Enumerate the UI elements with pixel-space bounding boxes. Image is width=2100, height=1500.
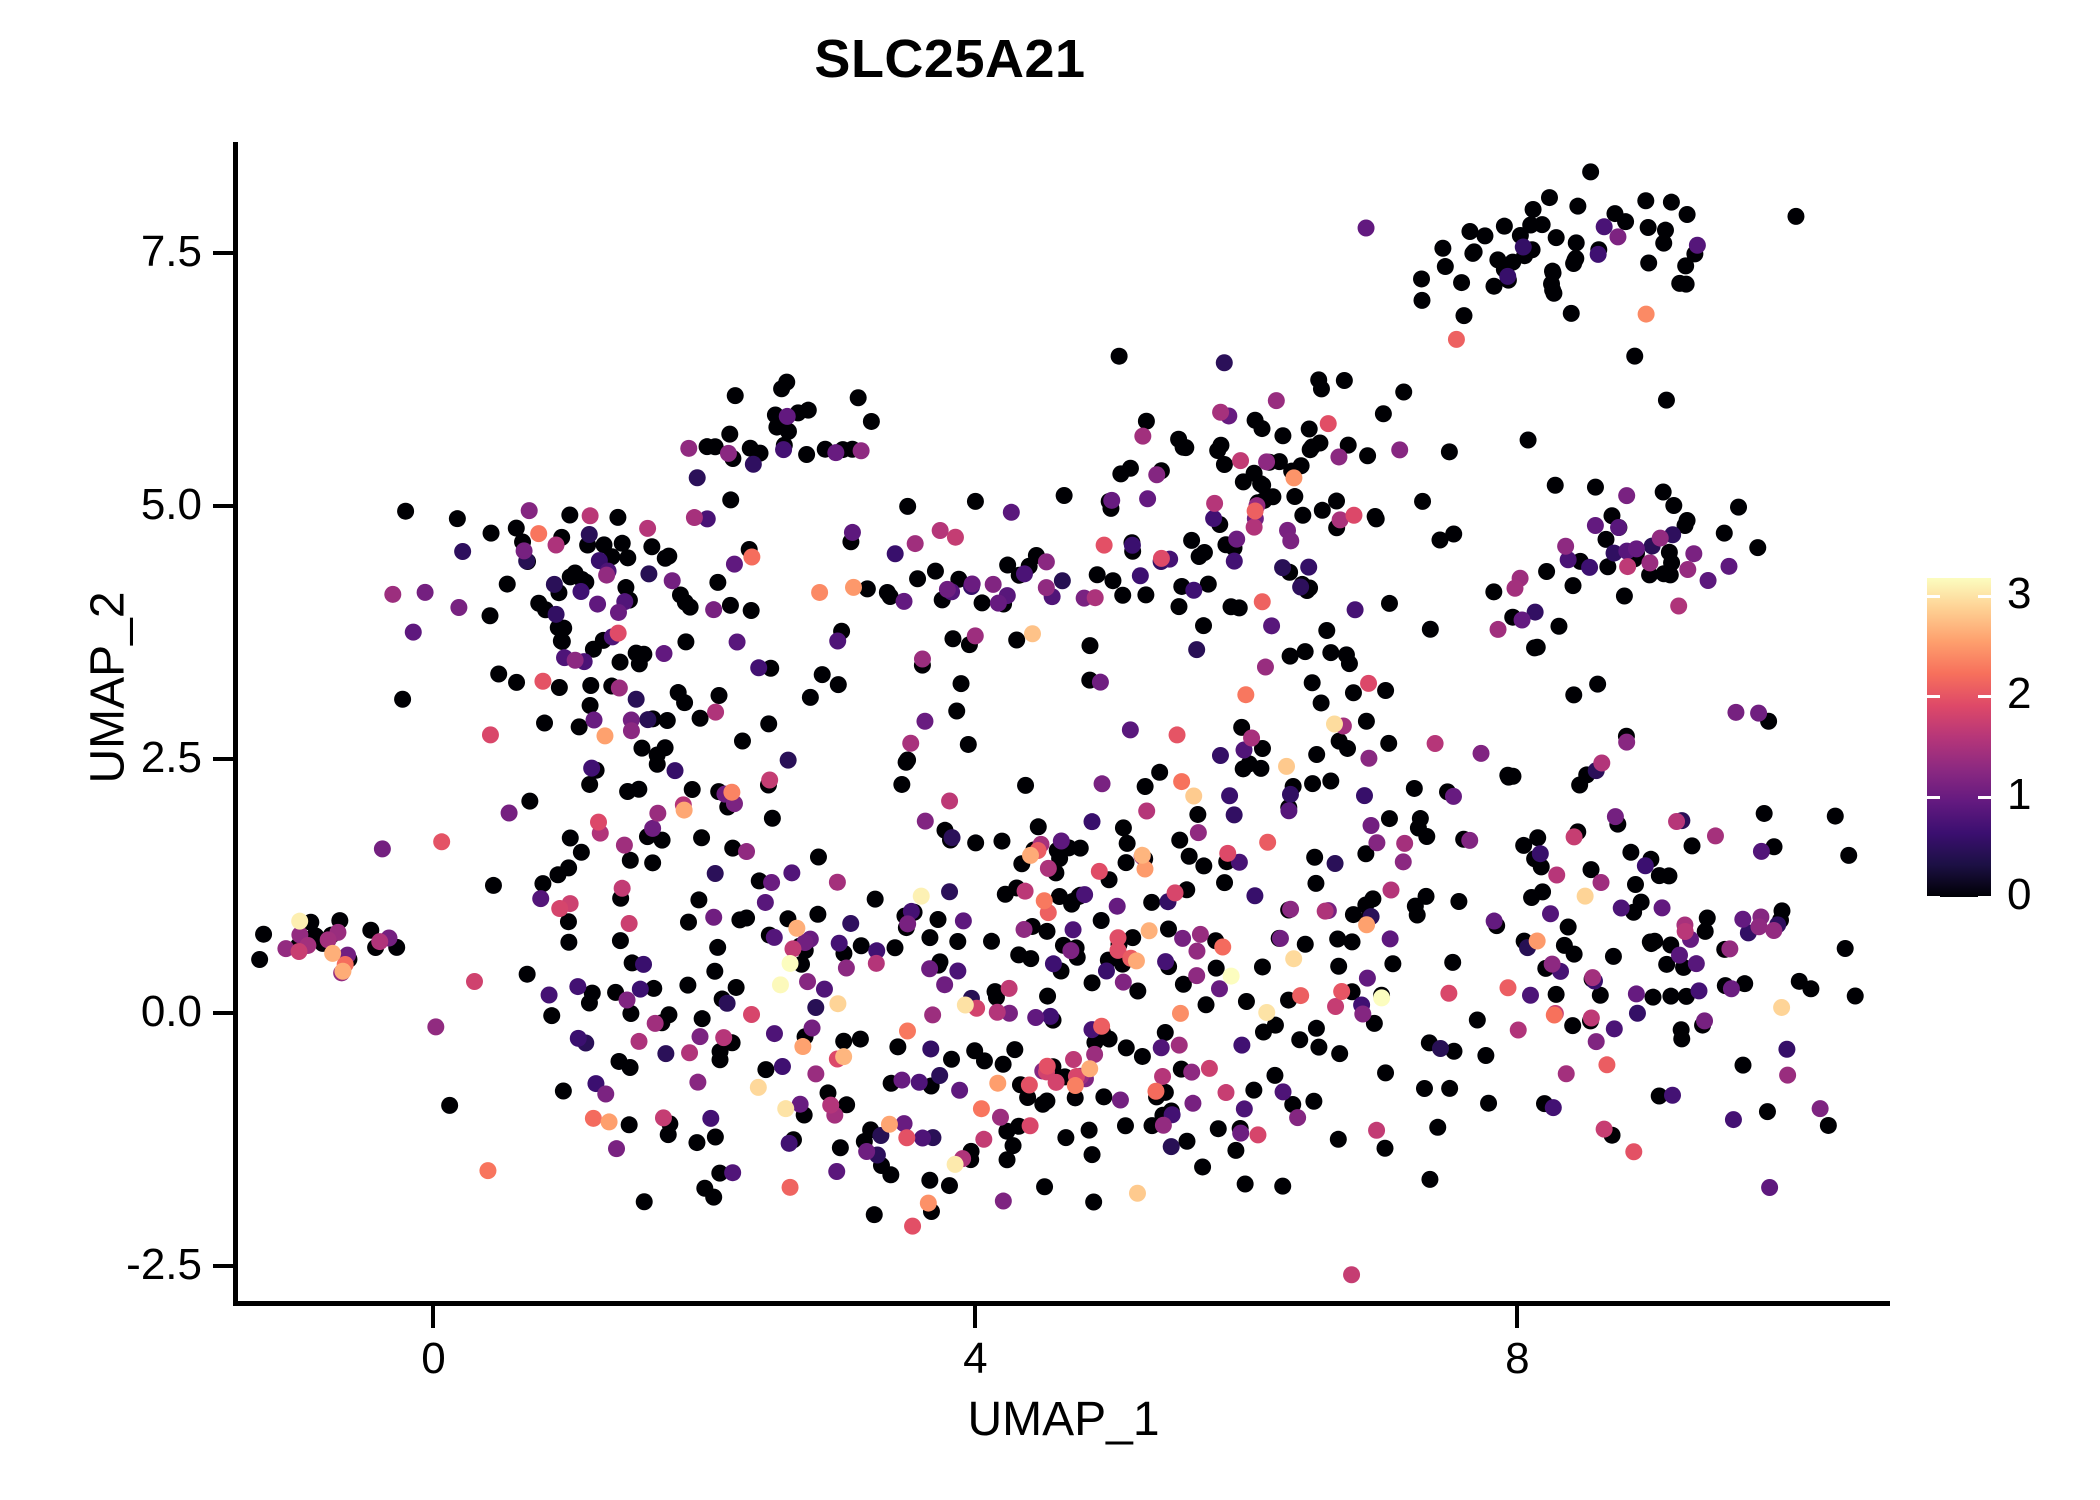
page-title: SLC25A21 [0, 28, 1900, 90]
color-legend-tick-mark [1927, 595, 1991, 598]
color-legend-tick-label: 3 [2007, 572, 2077, 616]
x-tick-label: 4 [895, 1334, 1055, 1384]
umap-feature-plot: SLC25A21 -2.50.02.55.07.5 048 UMAP_1 UMA… [0, 0, 2100, 1500]
x-axis-line [233, 1301, 1890, 1306]
y-tick-mark [213, 757, 235, 761]
color-legend-tick-mark [1927, 896, 1991, 899]
x-tick-mark [431, 1306, 435, 1328]
color-legend-gradient-bar [1927, 578, 1991, 897]
x-tick-mark [1515, 1306, 1519, 1328]
x-tick-label: 8 [1437, 1334, 1597, 1384]
y-axis-label: UMAP_2 [81, 288, 136, 1088]
color-legend-tick-label: 2 [2007, 672, 2077, 716]
y-tick-mark [213, 504, 235, 508]
plot-panel [237, 142, 1890, 1303]
y-tick-mark [213, 1011, 235, 1015]
y-tick-label: -2.5 [2, 1240, 202, 1290]
color-legend-tick-mark [1927, 796, 1991, 799]
y-tick-mark [213, 1264, 235, 1268]
color-legend-tick-label: 0 [2007, 873, 2077, 917]
x-tick-mark [973, 1306, 977, 1328]
color-legend-tick-mark [1927, 695, 1991, 698]
y-tick-label: 7.5 [2, 227, 202, 277]
color-legend-tick-label: 1 [2007, 773, 2077, 817]
x-tick-label: 0 [353, 1334, 513, 1384]
color-legend: 0123 [1927, 578, 1991, 897]
y-axis-line [233, 142, 238, 1306]
x-axis-label: UMAP_1 [237, 1392, 1890, 1447]
y-tick-mark [213, 251, 235, 255]
